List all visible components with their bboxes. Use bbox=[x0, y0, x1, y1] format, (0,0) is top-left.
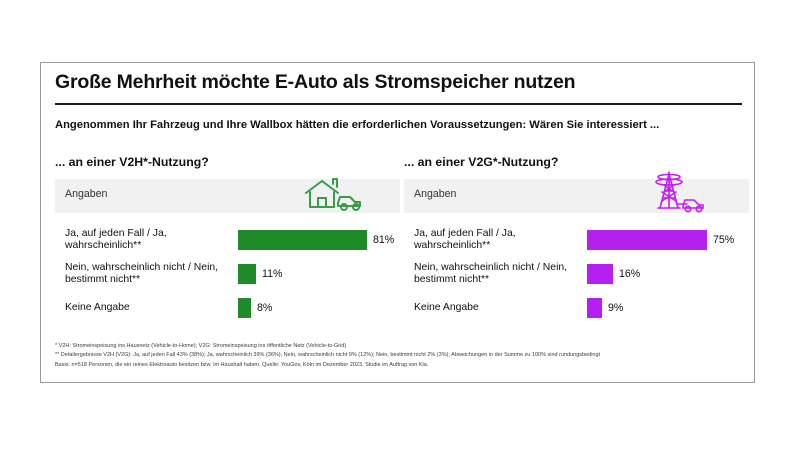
chart-bar bbox=[238, 230, 367, 250]
page-subtitle: Angenommen Ihr Fahrzeug und Ihre Wallbox… bbox=[55, 119, 659, 131]
chart-bar bbox=[587, 264, 613, 284]
footnote-source: Basis: n=518 Personen, die ein reines El… bbox=[55, 361, 745, 370]
chart-row: Ja, auf jeden Fall / Ja, wahrscheinlich*… bbox=[404, 223, 749, 257]
power-pylon-car-icon bbox=[649, 168, 707, 214]
chart-row: Keine Angabe 9% bbox=[404, 291, 749, 325]
panel-v2h: ... an einer V2H*-Nutzung? Angaben Ja, a… bbox=[55, 155, 400, 325]
infographic-card: Große Mehrheit möchte E-Auto als Stromsp… bbox=[40, 62, 755, 383]
chart-row-bar-area: 8% bbox=[238, 298, 272, 318]
panel-v2h-title: ... an einer V2H*-Nutzung? bbox=[55, 155, 400, 169]
panel-v2h-column-header: Angaben bbox=[65, 188, 107, 200]
chart-row: Ja, auf jeden Fall / Ja, wahrscheinlich*… bbox=[55, 223, 400, 257]
chart-row-label: Keine Angabe bbox=[65, 302, 228, 314]
footnote-details: ** Detailergebnisse V2H (V2G): Ja, auf j… bbox=[55, 351, 745, 360]
chart-row-bar-area: 9% bbox=[587, 298, 623, 318]
panel-v2g-header-band: Angaben bbox=[404, 179, 749, 213]
chart-bar-value: 16% bbox=[619, 268, 640, 280]
footnotes: * V2H: Stromeinspeisung ins Hausnetz (Ve… bbox=[55, 342, 745, 370]
footnote-definitions: * V2H: Stromeinspeisung ins Hausnetz (Ve… bbox=[55, 342, 745, 351]
chart-bar bbox=[238, 264, 256, 284]
chart-bar-value: 11% bbox=[262, 268, 282, 280]
chart-bar bbox=[587, 230, 707, 250]
chart-row: Keine Angabe 8% bbox=[55, 291, 400, 325]
panel-v2g: ... an einer V2G*-Nutzung? Angaben bbox=[404, 155, 749, 325]
chart-bar-value: 81% bbox=[373, 234, 394, 246]
panel-v2h-header-band: Angaben bbox=[55, 179, 400, 213]
chart-bar-value: 8% bbox=[257, 302, 272, 314]
chart-bar bbox=[587, 298, 602, 318]
title-divider bbox=[55, 103, 742, 105]
chart-row-bar-area: 81% bbox=[238, 230, 394, 250]
chart-row-label: Ja, auf jeden Fall / Ja, wahrscheinlich*… bbox=[65, 228, 228, 253]
page-title: Große Mehrheit möchte E-Auto als Stromsp… bbox=[55, 71, 575, 94]
chart-row-bar-area: 75% bbox=[587, 230, 734, 250]
house-car-icon bbox=[300, 173, 364, 213]
chart-row-label: Keine Angabe bbox=[414, 302, 577, 314]
chart-row-label: Ja, auf jeden Fall / Ja, wahrscheinlich*… bbox=[414, 228, 577, 253]
chart-bar-value: 75% bbox=[713, 234, 734, 246]
chart-row-bar-area: 16% bbox=[587, 264, 640, 284]
chart-row: Nein, wahrscheinlich nicht / Nein, besti… bbox=[55, 257, 400, 291]
chart-bar bbox=[238, 298, 251, 318]
chart-row-label: Nein, wahrscheinlich nicht / Nein, besti… bbox=[65, 262, 228, 287]
panel-v2h-rows: Ja, auf jeden Fall / Ja, wahrscheinlich*… bbox=[55, 223, 400, 325]
panel-v2g-rows: Ja, auf jeden Fall / Ja, wahrscheinlich*… bbox=[404, 223, 749, 325]
chart-bar-value: 9% bbox=[608, 302, 623, 314]
chart-row: Nein, wahrscheinlich nicht / Nein, besti… bbox=[404, 257, 749, 291]
chart-row-label: Nein, wahrscheinlich nicht / Nein, besti… bbox=[414, 262, 577, 287]
panel-v2g-title: ... an einer V2G*-Nutzung? bbox=[404, 155, 749, 169]
chart-row-bar-area: 11% bbox=[238, 264, 282, 284]
panel-v2g-column-header: Angaben bbox=[414, 188, 456, 200]
